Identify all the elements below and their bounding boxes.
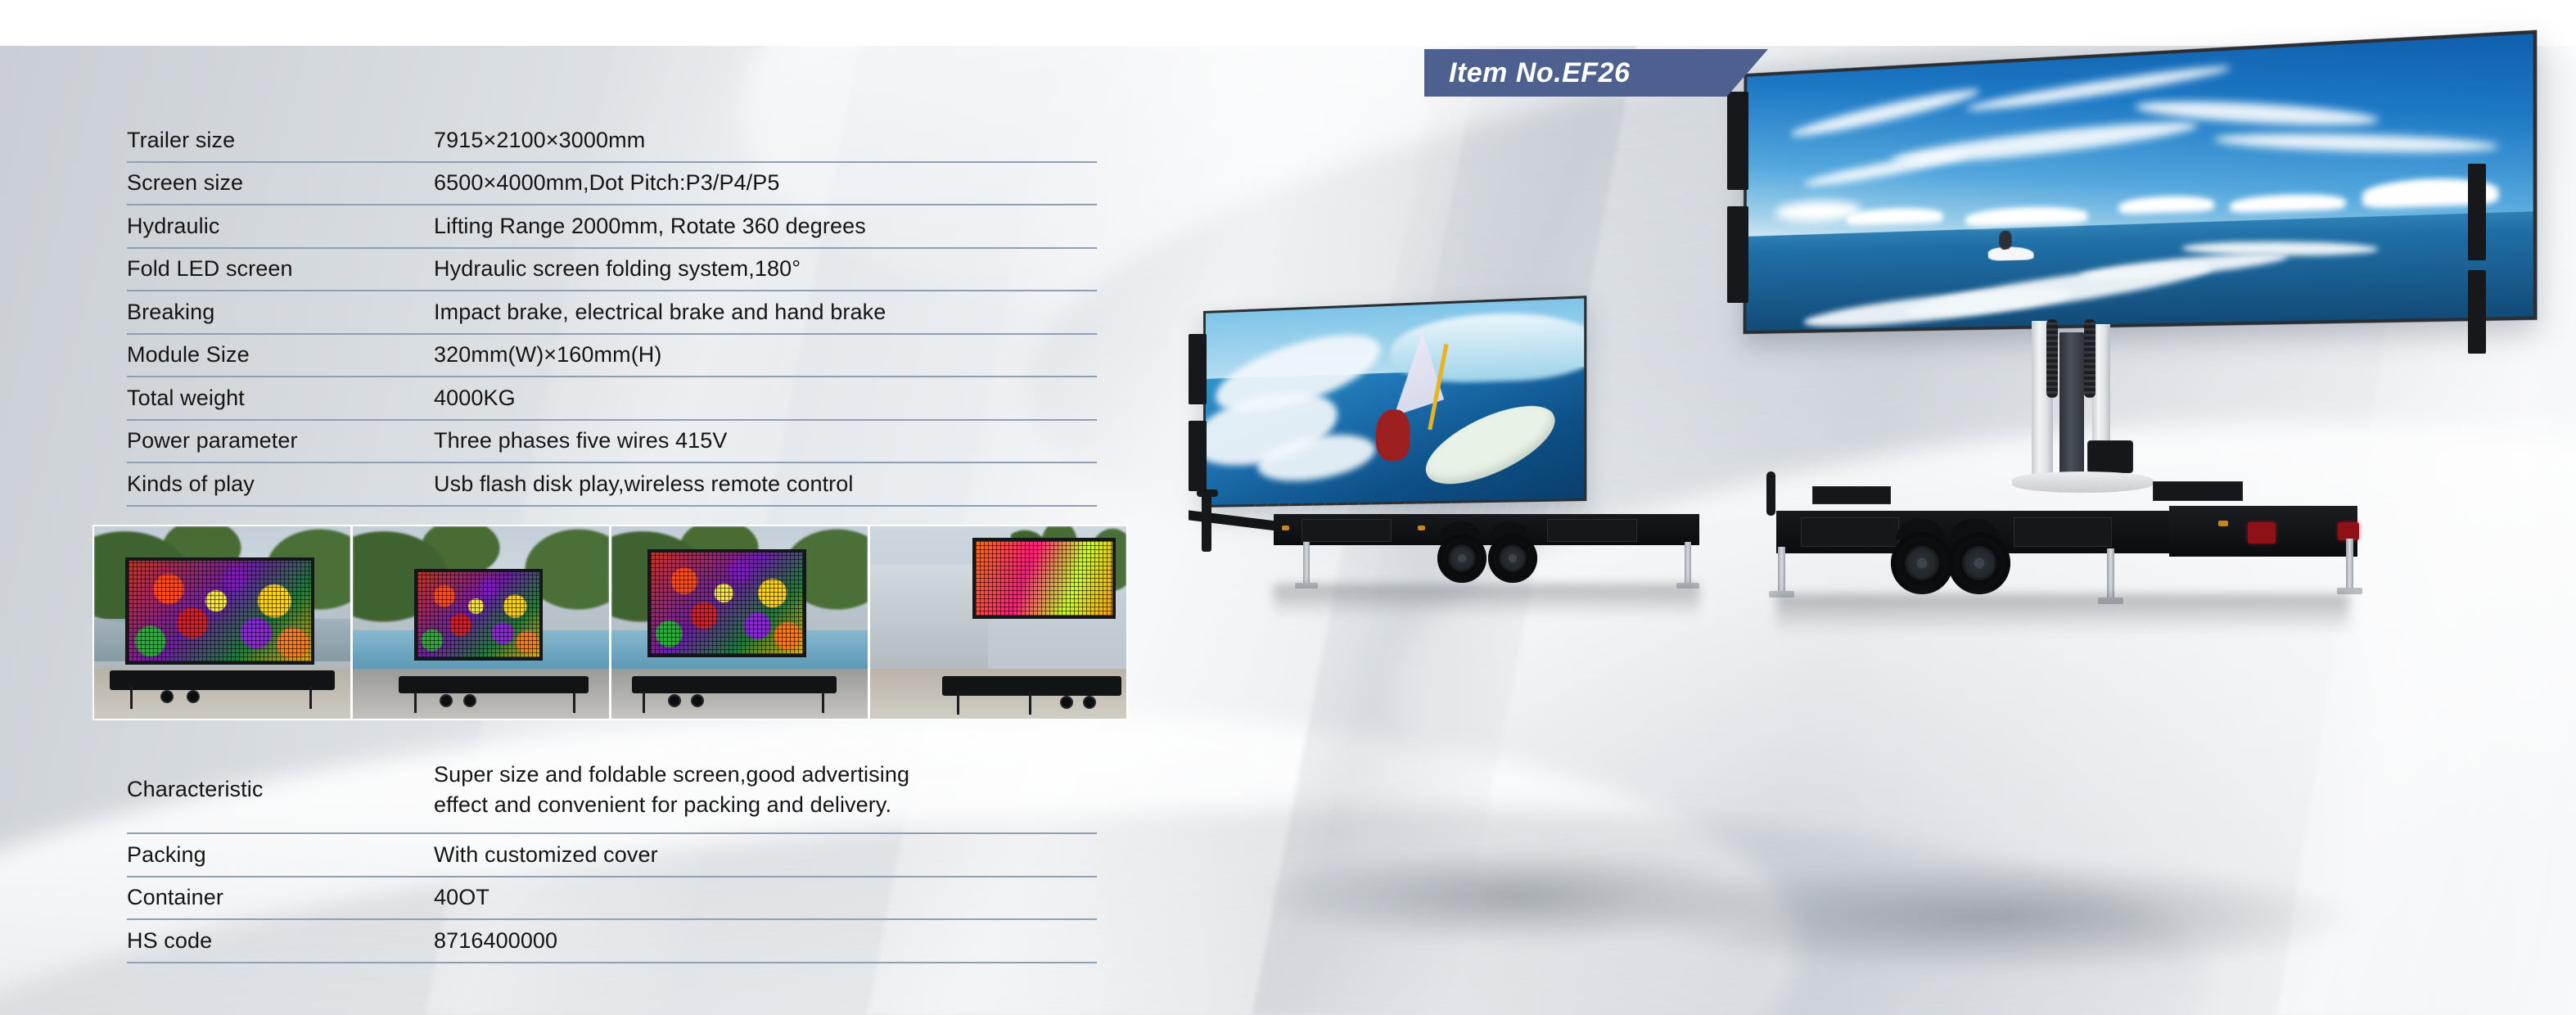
item-number-label: Item No.EF26 bbox=[1424, 57, 1630, 89]
screen-module-bar bbox=[1727, 206, 1748, 303]
spec-row: HS code 8716400000 bbox=[127, 920, 1097, 963]
main-led-screen bbox=[1744, 30, 2538, 334]
spec-row: Total weight 4000KG bbox=[127, 377, 1097, 421]
spec-label: HS code bbox=[127, 928, 434, 954]
specification-table-main: Trailer size 7915×2100×3000mm Screen siz… bbox=[127, 120, 1097, 507]
spec-label: Screen size bbox=[127, 170, 434, 196]
side-marker-light bbox=[1282, 526, 1289, 530]
spec-label: Fold LED screen bbox=[127, 256, 434, 282]
screen-module-bar bbox=[1189, 421, 1207, 491]
outrigger-leg bbox=[1303, 542, 1310, 584]
antenna-post bbox=[1766, 471, 1775, 516]
jockey-wheel-post bbox=[1202, 494, 1211, 552]
floor-reflection bbox=[1274, 584, 1699, 617]
jetski-rider bbox=[1999, 231, 2011, 250]
spec-label: Breaking bbox=[127, 300, 434, 325]
spec-row: Trailer size 7915×2100×3000mm bbox=[127, 120, 1097, 163]
spec-row: Kinds of play Usb flash disk play,wirele… bbox=[127, 463, 1097, 507]
trailer-storage-box bbox=[2014, 517, 2112, 547]
outrigger-foot bbox=[2337, 588, 2362, 594]
outrigger-leg bbox=[1778, 547, 1785, 593]
spec-row: Power parameter Three phases five wires … bbox=[127, 421, 1097, 464]
spec-label: Kinds of play bbox=[127, 471, 434, 497]
spec-value: Impact brake, electrical brake and hand … bbox=[434, 300, 886, 325]
side-marker-light bbox=[1418, 526, 1425, 530]
spec-row: Packing With customized cover bbox=[127, 834, 1097, 877]
jetski bbox=[1987, 246, 2033, 261]
trailer-storage-box bbox=[1302, 519, 1392, 542]
product-spec-sheet: Item No.EF26 Trailer size 7915×2100×3000… bbox=[0, 0, 2576, 1015]
item-number-badge: Item No.EF26 bbox=[1424, 49, 1768, 97]
spec-row: Module Size 320mm(W)×160mm(H) bbox=[127, 335, 1097, 378]
spec-row: Characteristic Super size and foldable s… bbox=[127, 747, 1097, 834]
trailer-wheel bbox=[1948, 532, 2010, 594]
spec-value: Hydraulic screen folding system,180° bbox=[434, 256, 801, 282]
product-render bbox=[1203, 74, 2546, 990]
spec-label: Packing bbox=[127, 842, 434, 868]
spec-label: Total weight bbox=[127, 386, 434, 411]
outrigger-leg bbox=[2346, 539, 2353, 589]
floor-reflection bbox=[1776, 594, 2349, 634]
gallery-thumbnail[interactable] bbox=[353, 526, 609, 719]
trailer-storage-box bbox=[1547, 519, 1637, 542]
outrigger-leg bbox=[2107, 548, 2114, 599]
spec-value: With customized cover bbox=[434, 842, 658, 868]
spec-label: Trailer size bbox=[127, 128, 434, 153]
tail-light bbox=[2248, 522, 2276, 544]
screen-module-bar bbox=[1189, 334, 1207, 404]
side-marker-light bbox=[2218, 521, 2228, 526]
spec-value: 4000KG bbox=[434, 386, 516, 411]
spec-value: 8716400000 bbox=[434, 928, 557, 954]
spec-row: Fold LED screen Hydraulic screen folding… bbox=[127, 249, 1097, 292]
specification-table-details: Characteristic Super size and foldable s… bbox=[127, 747, 1097, 963]
spec-value: 40OT bbox=[434, 885, 489, 910]
spec-value: 7915×2100×3000mm bbox=[434, 128, 645, 153]
spec-row: Container 40OT bbox=[127, 877, 1097, 921]
spec-label: Container bbox=[127, 885, 434, 910]
spec-row: Hydraulic Lifting Range 2000mm, Rotate 3… bbox=[127, 205, 1097, 249]
spec-row: Breaking Impact brake, electrical brake … bbox=[127, 291, 1097, 335]
gallery-thumbnail[interactable] bbox=[870, 526, 1126, 719]
spec-value: Three phases five wires 415V bbox=[434, 428, 727, 453]
deck-equipment-box bbox=[2153, 481, 2243, 501]
deck-equipment-box bbox=[1812, 486, 1891, 504]
hydraulic-cylinder bbox=[2059, 332, 2084, 481]
spec-label: Characteristic bbox=[127, 777, 434, 802]
control-box bbox=[2087, 440, 2133, 473]
spec-label: Hydraulic bbox=[127, 214, 434, 239]
spec-row: Screen size 6500×4000mm,Dot Pitch:P3/P4/… bbox=[127, 163, 1097, 206]
cable-chain bbox=[2046, 319, 2058, 398]
trailer-storage-box bbox=[1801, 517, 1899, 547]
outrigger-leg bbox=[1685, 542, 1691, 584]
background-top-band bbox=[0, 0, 2576, 46]
screen-module-bar bbox=[2468, 164, 2486, 260]
product-photo-gallery bbox=[92, 525, 1128, 720]
cable-chain bbox=[2084, 319, 2096, 398]
spec-value: 6500×4000mm,Dot Pitch:P3/P4/P5 bbox=[434, 170, 780, 196]
screen-module-bar bbox=[1727, 92, 1748, 190]
spec-value-line2: effect and convenient for packing and de… bbox=[434, 792, 891, 817]
gallery-thumbnail[interactable] bbox=[611, 526, 868, 719]
spec-value: Super size and foldable screen,good adve… bbox=[434, 760, 909, 819]
spec-value-line1: Super size and foldable screen,good adve… bbox=[434, 762, 909, 787]
screen-module-bar bbox=[2468, 270, 2486, 354]
spec-label: Module Size bbox=[127, 342, 434, 368]
trailer-wheel bbox=[1437, 534, 1487, 583]
spec-value: 320mm(W)×160mm(H) bbox=[434, 342, 661, 368]
spec-label: Power parameter bbox=[127, 428, 434, 453]
gallery-thumbnail[interactable] bbox=[94, 526, 350, 719]
tail-light bbox=[2338, 522, 2359, 540]
secondary-led-screen bbox=[1203, 295, 1586, 508]
trailer-wheel bbox=[1488, 534, 1537, 583]
floor-shadow bbox=[1629, 859, 2366, 974]
trailer-wheel bbox=[1891, 532, 1953, 594]
windsurfer bbox=[1376, 409, 1410, 461]
spec-value: Usb flash disk play,wireless remote cont… bbox=[434, 471, 854, 497]
spec-value: Lifting Range 2000mm, Rotate 360 degrees bbox=[434, 214, 866, 239]
